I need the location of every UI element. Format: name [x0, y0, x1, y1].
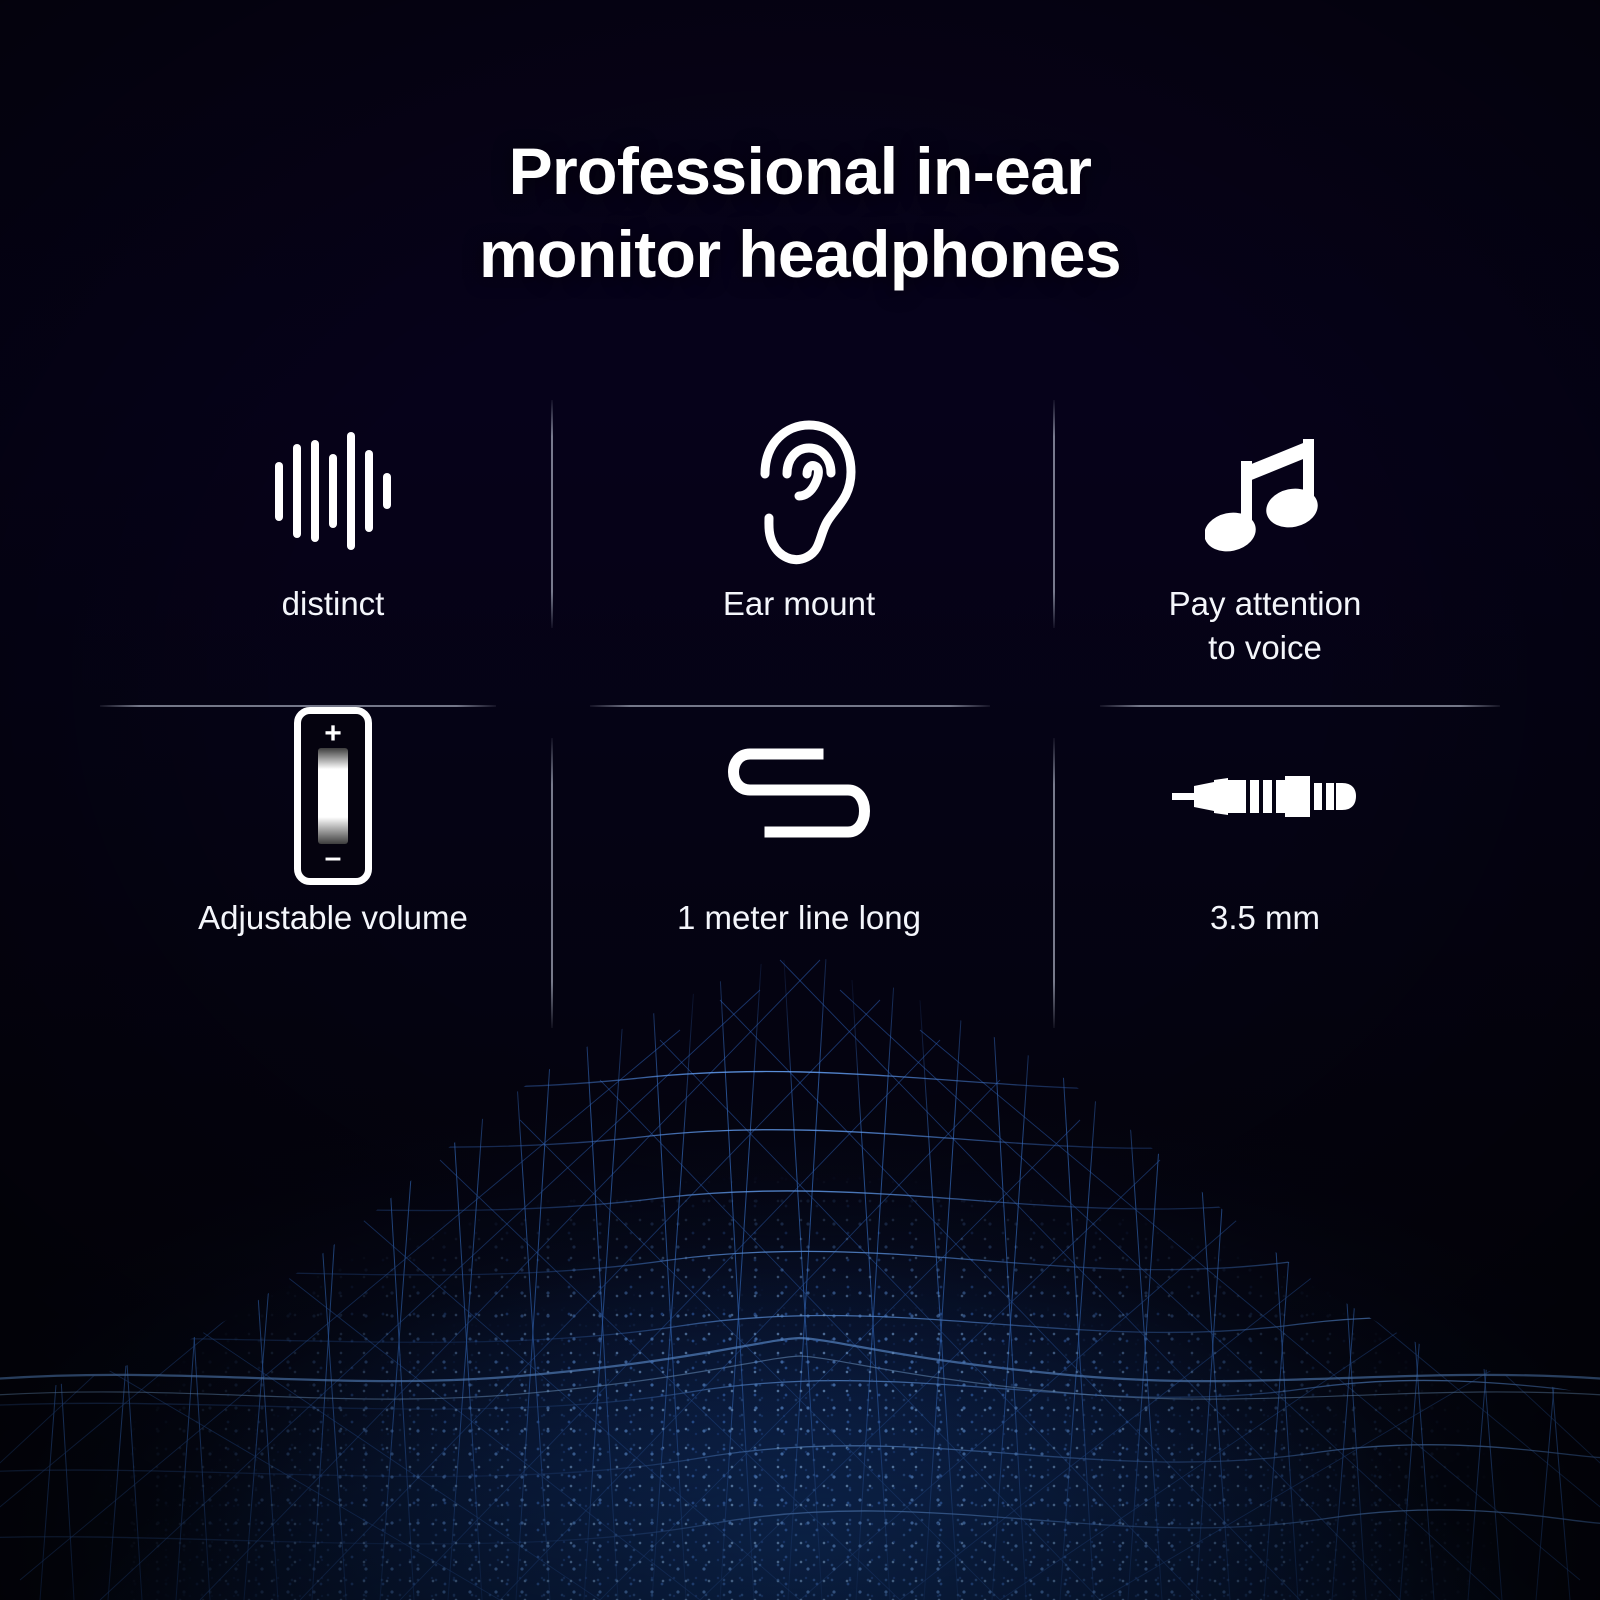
volume-level-track — [318, 748, 348, 844]
feature-item-ear-mount: Ear mount — [566, 416, 1032, 706]
page-title: Professional in-ear monitor headphones — [0, 130, 1600, 296]
audio-jack-icon — [1170, 716, 1360, 876]
volume-plus-sign: + — [324, 723, 342, 745]
feature-item-distinct: distinct — [100, 416, 566, 706]
music-note-icon — [1205, 416, 1325, 566]
feature-label-distinct: distinct — [282, 582, 385, 626]
feature-label-jack-size: 3.5 mm — [1210, 896, 1320, 940]
ear-icon — [735, 416, 863, 566]
volume-slider-icon: + – — [294, 716, 372, 876]
product-infographic: Professional in-ear monitor headphones d… — [0, 0, 1600, 1600]
feature-grid: distinct Ear mount — [100, 398, 1500, 978]
feature-label-ear-mount: Ear mount — [723, 582, 875, 626]
page-title-line-2: monitor headphones — [0, 213, 1600, 296]
feature-label-one-meter-line: 1 meter line long — [677, 896, 921, 940]
page-title-line-1: Professional in-ear — [509, 134, 1092, 208]
feature-label-adjustable-volume: Adjustable volume — [198, 896, 468, 940]
volume-minus-sign: – — [325, 847, 342, 869]
coiled-cable-icon — [714, 716, 884, 876]
feature-item-one-meter-line: 1 meter line long — [566, 716, 1032, 978]
feature-label-pay-attention-to-voice: Pay attention to voice — [1169, 582, 1362, 669]
feature-item-adjustable-volume: + – Adjustable volume — [100, 716, 566, 978]
feature-item-pay-attention-to-voice: Pay attention to voice — [1032, 416, 1498, 706]
feature-item-jack-size: 3.5 mm — [1032, 716, 1498, 978]
sound-wave-icon — [275, 416, 391, 566]
